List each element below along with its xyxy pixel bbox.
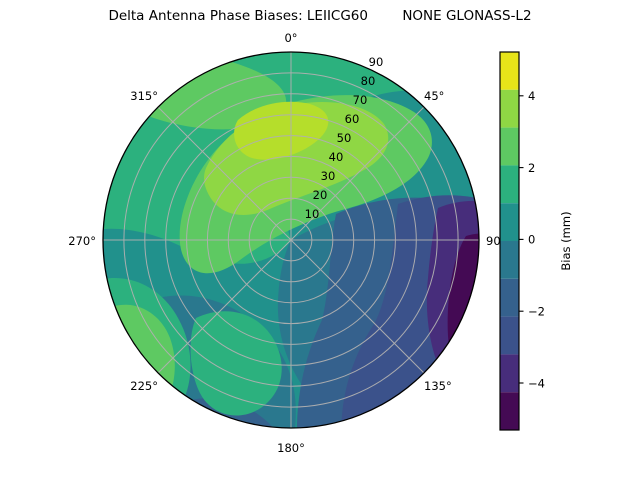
- colorbar-band-1: [500, 90, 519, 128]
- angular-tick-0: 0°: [284, 31, 297, 45]
- colorbar-band-2: [500, 128, 519, 166]
- contour-band-pos3-b: [106, 357, 156, 437]
- radial-tick-10: 10: [305, 207, 320, 221]
- angular-tick-315: 315°: [130, 89, 158, 103]
- colorbar-band-5: [500, 241, 519, 279]
- radial-tick-80: 80: [361, 74, 376, 88]
- colorbar-ticks: [519, 96, 524, 383]
- polar-grid: [103, 52, 479, 428]
- radial-tick-90: 90: [369, 55, 384, 69]
- colorbar-band-8: [500, 354, 519, 392]
- angular-tick-225: 225°: [130, 379, 158, 393]
- angular-tick-270: 270°: [68, 234, 96, 248]
- colorbar-band-6: [500, 279, 519, 317]
- colorbar-band-4: [500, 203, 519, 241]
- radial-tick-70: 70: [353, 93, 368, 107]
- colorbar-band-9: [500, 392, 519, 430]
- colorbar[interactable]: 4 2 0 −2 −4 Bias (mm): [500, 52, 573, 430]
- colorbar-tick-0: 0: [528, 233, 535, 247]
- contour-band-neg4: [427, 201, 540, 430]
- colorbar-band-0: [500, 52, 519, 90]
- figure-canvas: Delta Antenna Phase Biases: LEIICG60 NON…: [0, 0, 640, 480]
- radial-tick-40: 40: [329, 150, 344, 164]
- angular-tick-45: 45°: [424, 89, 444, 103]
- radial-tick-50: 50: [337, 131, 352, 145]
- colorbar-tick-neg2: −2: [528, 305, 545, 319]
- colorbar-tick-neg4: −4: [528, 377, 545, 391]
- colorbar-tick-2: 2: [528, 161, 535, 175]
- colorbar-tick-4: 4: [528, 89, 535, 103]
- radial-tick-30: 30: [321, 169, 336, 183]
- page-title: Delta Antenna Phase Biases: LEIICG60 NON…: [0, 8, 640, 24]
- colorbar-band-7: [500, 317, 519, 355]
- angular-tick-180: 180°: [277, 441, 305, 455]
- radial-tick-60: 60: [345, 112, 360, 126]
- colorbar-bands: [500, 52, 519, 430]
- radial-tick-20: 20: [313, 188, 328, 202]
- colorbar-tick-labels: 4 2 0 −2 −4: [528, 89, 545, 391]
- colorbar-axis-label: Bias (mm): [559, 211, 573, 270]
- polar-plot-svg: 0° 45° 90° 135° 180° 225° 270° 315° 10 2…: [0, 0, 640, 480]
- angular-tick-135: 135°: [424, 379, 452, 393]
- colorbar-band-3: [500, 165, 519, 203]
